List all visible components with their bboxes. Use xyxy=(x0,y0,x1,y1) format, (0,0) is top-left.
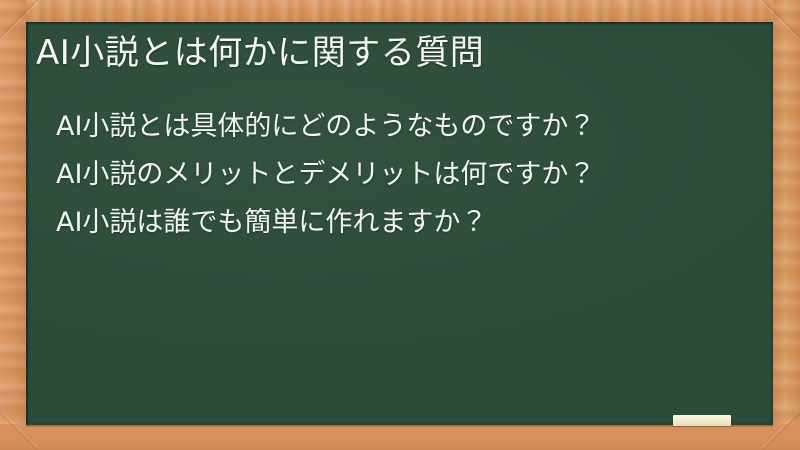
chalkboard-bottom-shadow xyxy=(26,424,773,427)
list-item: AI小説とは具体的にどのようなものですか？ xyxy=(56,103,595,151)
page-title: AI小説とは何かに関する質問 xyxy=(36,32,484,74)
chalk-stick-icon xyxy=(673,415,731,426)
frame-rail-top xyxy=(0,0,800,24)
question-list: AI小説とは具体的にどのようなものですか？ AI小説のメリットとデメリットは何で… xyxy=(56,103,595,247)
chalkboard-slide: AI小説とは何かに関する質問 AI小説とは具体的にどのようなものですか？ AI小… xyxy=(0,0,800,450)
list-item: AI小説のメリットとデメリットは何ですか？ xyxy=(56,151,595,199)
frame-rail-left xyxy=(0,0,26,450)
chalk-ledge xyxy=(0,424,800,450)
list-item: AI小説は誰でも簡単に作れますか？ xyxy=(56,199,595,247)
frame-rail-right xyxy=(773,0,800,450)
